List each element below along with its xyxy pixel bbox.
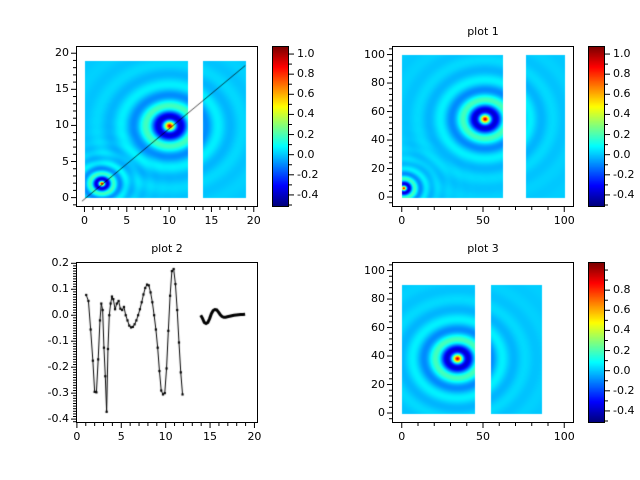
colorbar-tick-label: 0.6 [613, 304, 640, 315]
colorbar-tick-label: -0.2 [613, 385, 640, 396]
subplot-3: plot 30501000204060801000.80.60.40.20.0-… [0, 0, 640, 480]
colorbar-tick-label: -0.4 [613, 405, 640, 416]
colorbar-tick-label: 0.4 [613, 324, 640, 335]
colorbar-tick-label: 0.2 [613, 345, 640, 356]
y-tick-label: 100 [341, 265, 385, 276]
y-tick-label: 60 [341, 322, 385, 333]
colorbar-gradient [589, 263, 604, 422]
y-tick-label: 0 [341, 407, 385, 418]
figure-canvas: 05101520051015201.00.80.60.40.20.0-0.2-0… [0, 0, 640, 480]
x-tick-label: 0 [380, 431, 424, 442]
axis-ticks [0, 0, 640, 480]
colorbar [588, 262, 605, 423]
colorbar-tick-label: 0.8 [613, 284, 640, 295]
colorbar-tick-label: 0.0 [613, 365, 640, 376]
y-tick-label: 40 [341, 350, 385, 361]
x-tick-label: 50 [461, 431, 505, 442]
y-tick-label: 80 [341, 293, 385, 304]
y-tick-label: 20 [341, 379, 385, 390]
x-tick-label: 100 [542, 431, 586, 442]
